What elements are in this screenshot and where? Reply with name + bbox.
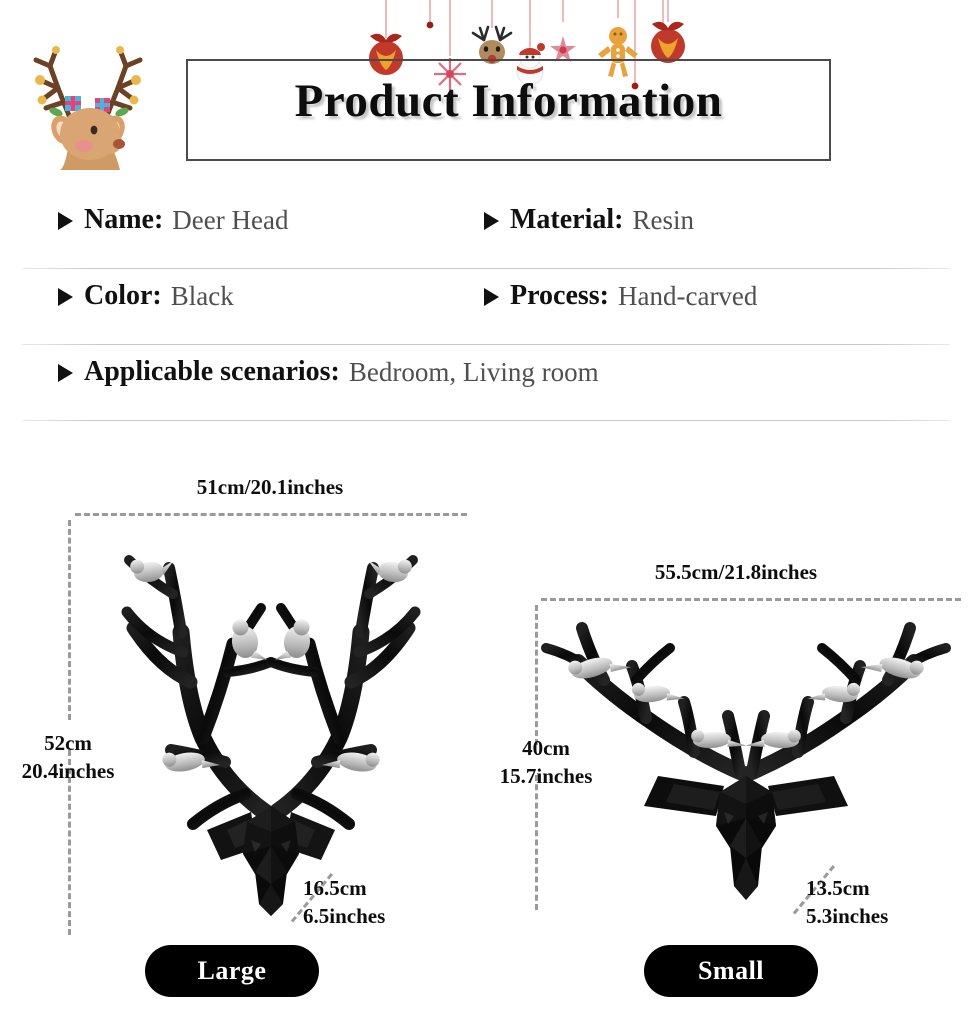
spec-row: Applicable scenarios: Bedroom, Living ro… [0, 348, 971, 424]
height-dimension-line-upper [68, 520, 71, 720]
triangle-right-icon [484, 288, 499, 306]
page-header: Product Information [0, 0, 971, 200]
width-dimension-label: 51cm/20.1inches [95, 475, 445, 500]
size-badge-small[interactable]: Small [644, 945, 818, 997]
divider [22, 344, 950, 345]
triangle-right-icon [58, 364, 73, 382]
spec-label: Material: [510, 204, 624, 236]
spec-row: Name: Deer Head Material: Resin [0, 196, 971, 272]
size-badge-label: Large [198, 956, 267, 986]
spec-value: Black [171, 281, 234, 312]
divider [22, 268, 950, 269]
triangle-right-icon [58, 212, 73, 230]
product-spec-table: Name: Deer Head Material: Resin Color: B… [0, 196, 971, 424]
spec-item-process: Process: Hand-carved [484, 280, 757, 312]
spec-label: Applicable scenarios: [84, 356, 340, 388]
spec-value: Bedroom, Living room [349, 357, 599, 388]
spec-label: Color: [84, 280, 162, 312]
spec-value: Deer Head [172, 205, 288, 236]
spec-item-applicable-scenarios: Applicable scenarios: Bedroom, Living ro… [58, 356, 599, 388]
product-size-comparison: 51cm/20.1inches 52cm 20.4inches 16.5cm 6… [0, 450, 971, 1014]
spec-item-material: Material: Resin [484, 204, 694, 236]
spec-row: Color: Black Process: Hand-carved [0, 272, 971, 348]
spec-item-name: Name: Deer Head [58, 204, 288, 236]
black-deer-head-wide-antlers-with-silver-birds-icon [534, 600, 958, 945]
size-badge-large[interactable]: Large [145, 945, 319, 997]
spec-label: Process: [510, 280, 609, 312]
product-variant-small: 55.5cm/21.8inches 40cm 15.7inches 13.5cm… [486, 450, 971, 1014]
spec-value: Hand-carved [618, 281, 757, 312]
small-red-dot-ornament [427, 22, 434, 29]
christmas-reindeer-mascot-icon [12, 22, 164, 170]
spec-item-color: Color: Black [58, 280, 234, 312]
triangle-right-icon [58, 288, 73, 306]
triangle-right-icon [484, 212, 499, 230]
spec-value: Resin [633, 205, 695, 236]
page-title: Product Information [186, 74, 831, 128]
spec-label: Name: [84, 204, 163, 236]
size-badge-label: Small [698, 956, 764, 986]
width-dimension-label: 55.5cm/21.8inches [556, 560, 916, 585]
black-deer-head-tall-antlers-with-silver-birds-icon [75, 512, 467, 937]
product-variant-large: 51cm/20.1inches 52cm 20.4inches 16.5cm 6… [0, 450, 485, 1014]
divider [22, 420, 950, 421]
